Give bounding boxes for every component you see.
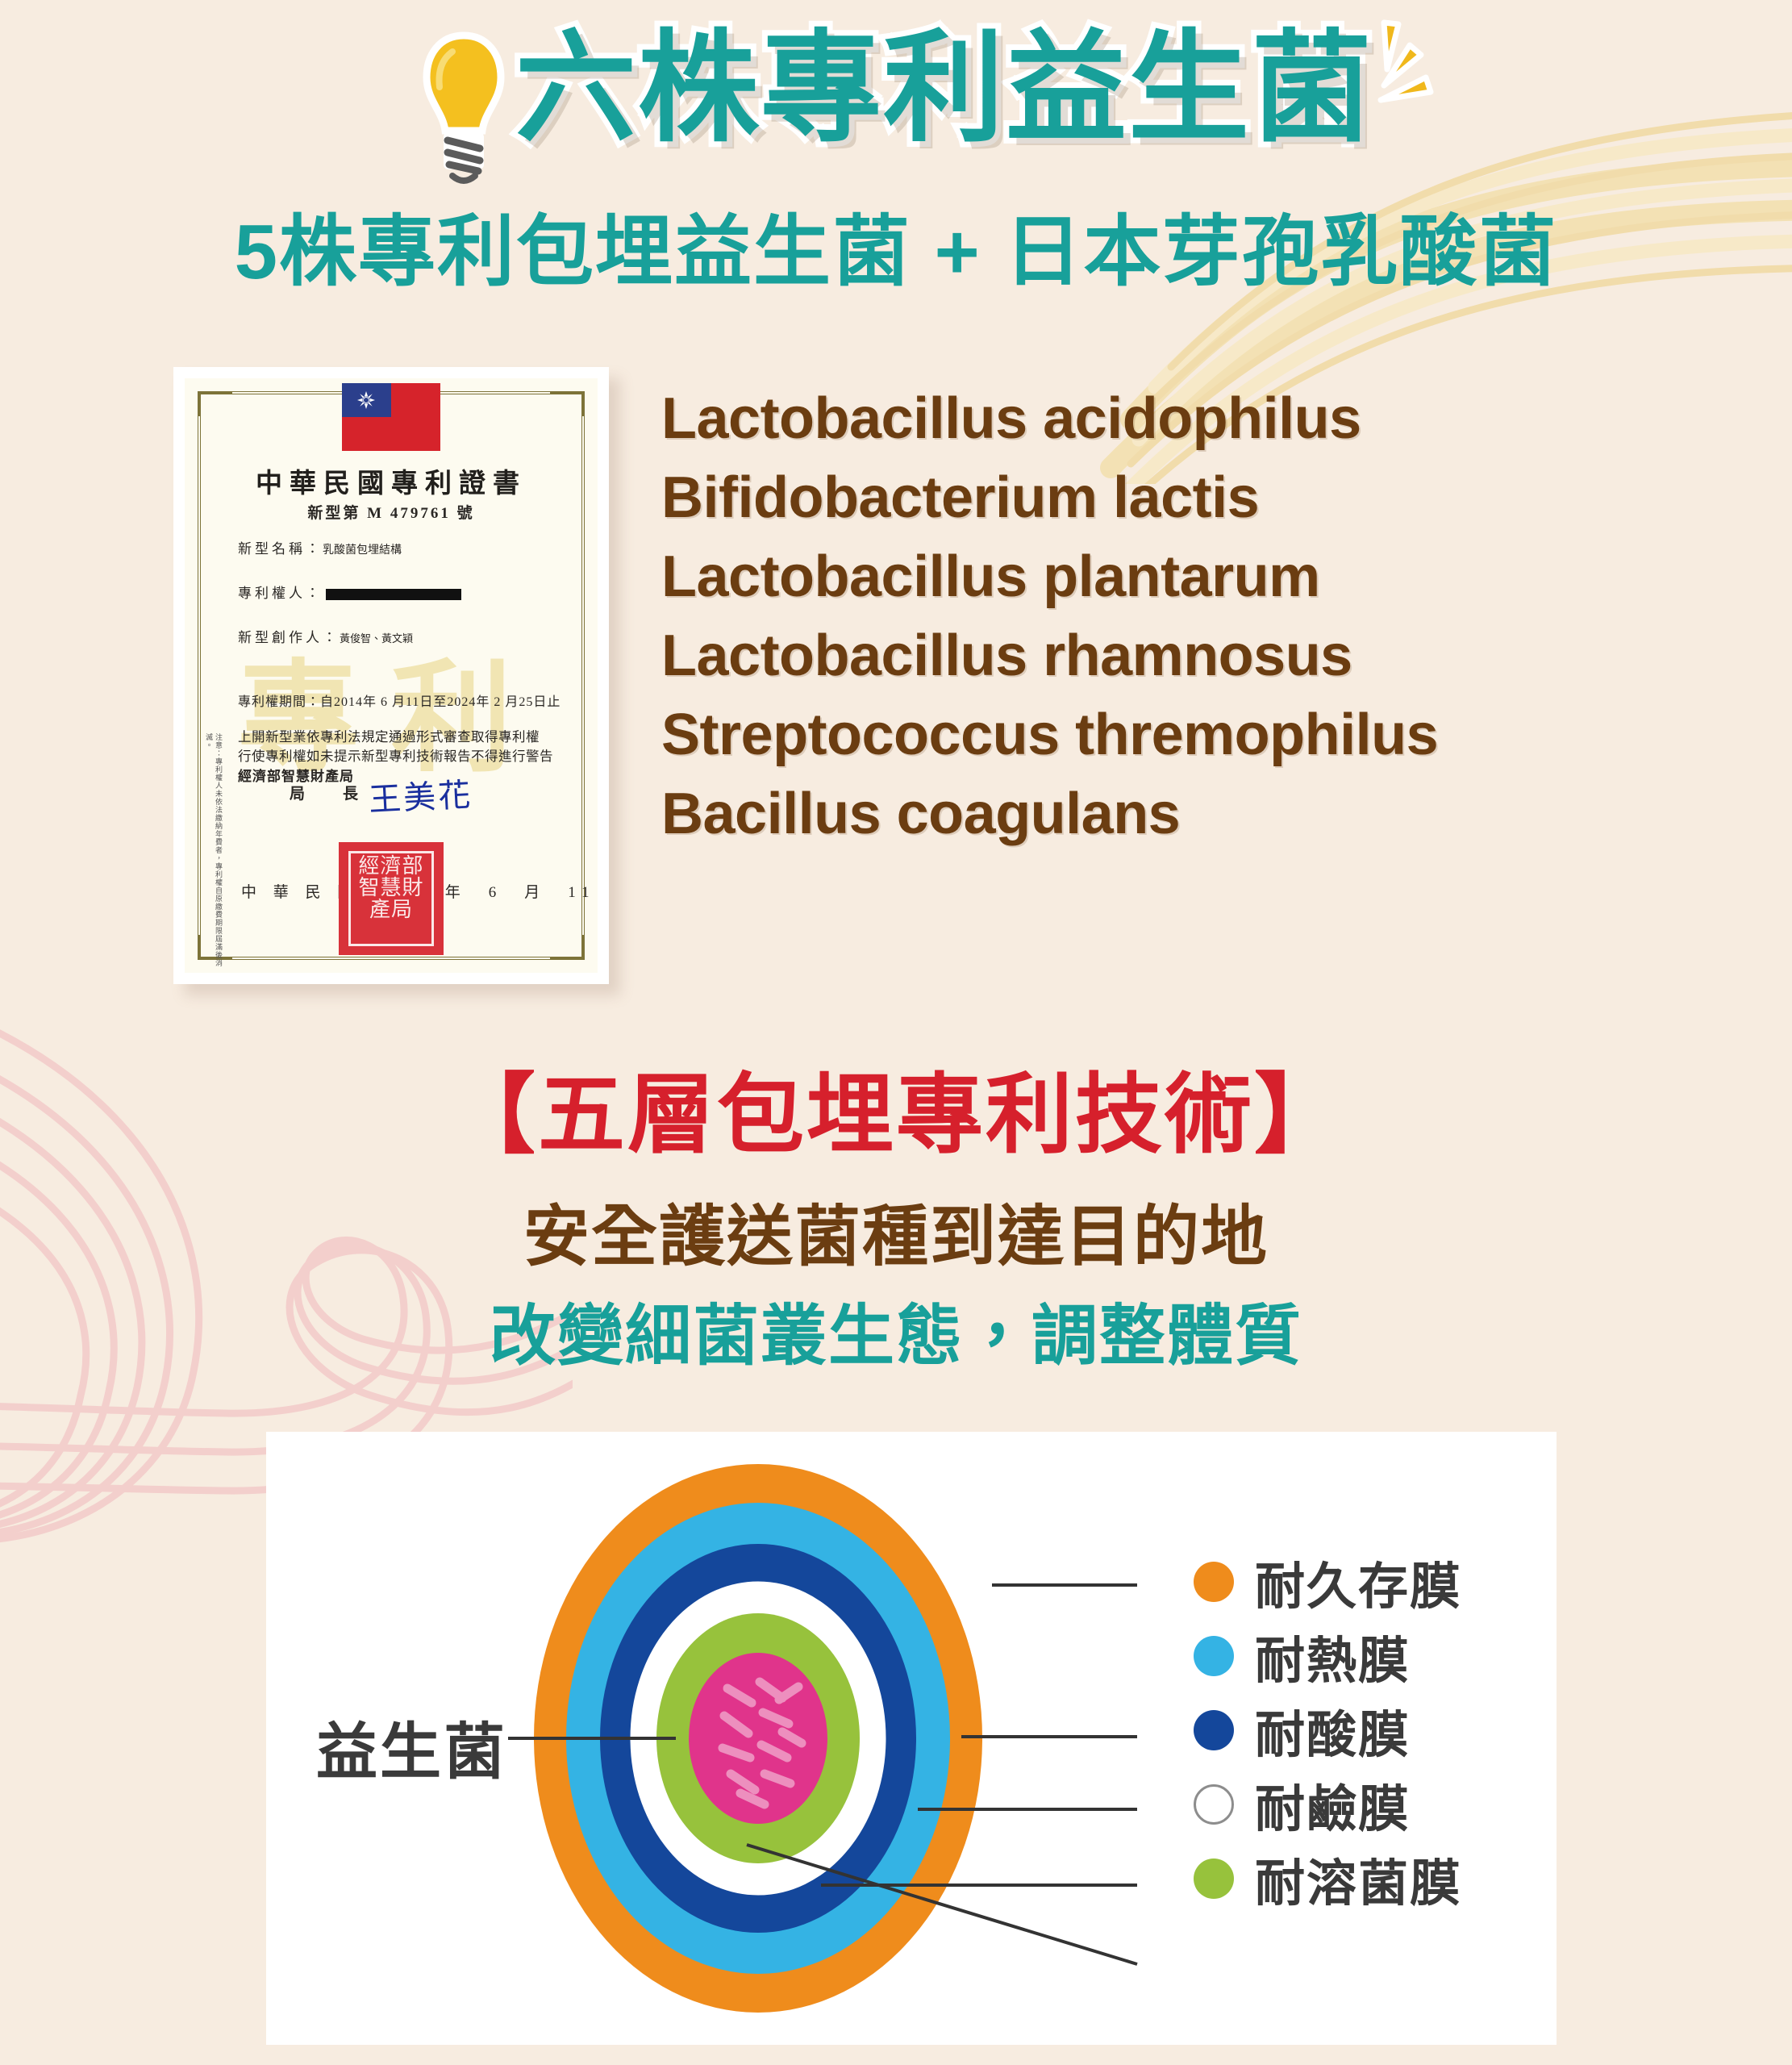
legend-item-alkali: 耐鹼膜 bbox=[1194, 1767, 1532, 1842]
header: 六株專利益生菌 5株專利包埋益生菌 + 日本芽孢乳酸菌 bbox=[0, 0, 1792, 301]
certificate-director-label: 局 長 bbox=[290, 782, 369, 803]
technology-section: 【五層包埋專利技術】 安全護送菌種到達目的地 改變細菌叢生態，調整體質 bbox=[0, 1065, 1792, 1378]
technology-line-2: 改變細菌叢生態，調整體質 bbox=[0, 1282, 1792, 1378]
certificate-number: 新型第 M 479761 號 bbox=[185, 501, 598, 523]
layer-diagram-card: 益生菌 耐久存膜 耐熱膜 耐酸膜 耐鹼膜 耐溶菌膜 bbox=[266, 1432, 1557, 2045]
certificate-side-note: 注意：專利權人未依法繳納年費者，專利權自原繳費期限屆滿後消滅。 bbox=[204, 733, 223, 973]
certificate-name-value: 乳酸菌包埋結構 bbox=[323, 544, 402, 557]
legend-dot-white-icon bbox=[1194, 1784, 1234, 1825]
legend-dot-orange-icon bbox=[1194, 1562, 1234, 1602]
list-item: Streptococcus thremophilus bbox=[661, 695, 1438, 774]
probiotic-label: 益生菌 bbox=[316, 1702, 507, 1791]
official-seal-icon: 經濟部智慧財產局 bbox=[339, 842, 444, 955]
redaction-bar bbox=[326, 589, 461, 600]
legend-dot-navy-icon bbox=[1194, 1710, 1234, 1750]
legend-label: 耐久存膜 bbox=[1255, 1546, 1461, 1618]
certificate-note-line-1: 上開新型業依專利法規定通過形式審查取得專利權 bbox=[238, 726, 540, 745]
legend-label: 耐熱膜 bbox=[1255, 1620, 1410, 1692]
director-signature: 王美花 bbox=[368, 769, 474, 821]
technology-headline: 【五層包埋專利技術】 bbox=[0, 1065, 1792, 1165]
legend-label: 耐溶菌膜 bbox=[1255, 1842, 1461, 1915]
legend-item-durable: 耐久存膜 bbox=[1194, 1545, 1532, 1619]
legend-label: 耐鹼膜 bbox=[1255, 1768, 1410, 1841]
species-list: Lactobacillus acidophilus Bifidobacteriu… bbox=[661, 379, 1438, 853]
diagram-legend: 耐久存膜 耐熱膜 耐酸膜 耐鹼膜 耐溶菌膜 bbox=[1194, 1545, 1532, 1916]
legend-dot-green-icon bbox=[1194, 1858, 1234, 1899]
certificate-creator-row: 新型創作人：黃俊智、黃文穎 bbox=[238, 626, 413, 646]
certificate-owner-label: 專利權人： bbox=[238, 586, 323, 601]
title-row: 六株專利益生菌 bbox=[0, 0, 1792, 184]
list-item: Lactobacillus rhamnosus bbox=[661, 616, 1438, 695]
certificate-title: 中華民國專利證書 bbox=[185, 461, 598, 500]
legend-item-lysozyme: 耐溶菌膜 bbox=[1194, 1842, 1532, 1916]
list-item: Lactobacillus plantarum bbox=[661, 537, 1438, 616]
page-title: 六株專利益生菌 bbox=[515, 23, 1373, 153]
patent-certificate-image: 專利 bbox=[173, 367, 609, 984]
poster-root: 六株專利益生菌 5株專利包埋益生菌 + 日本芽孢乳酸菌 專利 bbox=[0, 0, 1792, 2065]
certificate-creator-label: 新型創作人： bbox=[238, 630, 340, 645]
roc-flag-icon bbox=[342, 383, 440, 451]
seal-text: 經濟部智慧財產局 bbox=[351, 853, 431, 920]
certificate-name-label: 新型名稱： bbox=[238, 541, 323, 557]
list-item: Bacillus coagulans bbox=[661, 774, 1438, 853]
sparkle-icon bbox=[1363, 16, 1468, 129]
lightbulb-icon bbox=[419, 31, 509, 192]
certificate-term: 專利權期間：自2014年 6 月11日至2024年 2 月25日止 bbox=[238, 690, 561, 710]
certificate-name-row: 新型名稱：乳酸菌包埋結構 bbox=[238, 537, 402, 557]
certificate-and-species-section: 專利 bbox=[0, 367, 1792, 1037]
list-item: Lactobacillus acidophilus bbox=[661, 379, 1438, 458]
list-item: Bifidobacterium lactis bbox=[661, 458, 1438, 537]
certificate-owner-row: 專利權人： bbox=[238, 582, 461, 602]
legend-item-acid: 耐酸膜 bbox=[1194, 1693, 1532, 1767]
certificate-note-line-2: 行使專利權如未提示新型專利技術報告不得進行警告 bbox=[238, 745, 553, 765]
legend-item-heat: 耐熱膜 bbox=[1194, 1619, 1532, 1693]
technology-line-1: 安全護送菌種到達目的地 bbox=[0, 1183, 1792, 1279]
legend-dot-cyan-icon bbox=[1194, 1636, 1234, 1676]
page-subtitle: 5株專利包埋益生菌 + 日本芽孢乳酸菌 bbox=[0, 189, 1792, 301]
legend-label: 耐酸膜 bbox=[1255, 1694, 1410, 1767]
certificate-creator-value: 黃俊智、黃文穎 bbox=[340, 632, 413, 645]
